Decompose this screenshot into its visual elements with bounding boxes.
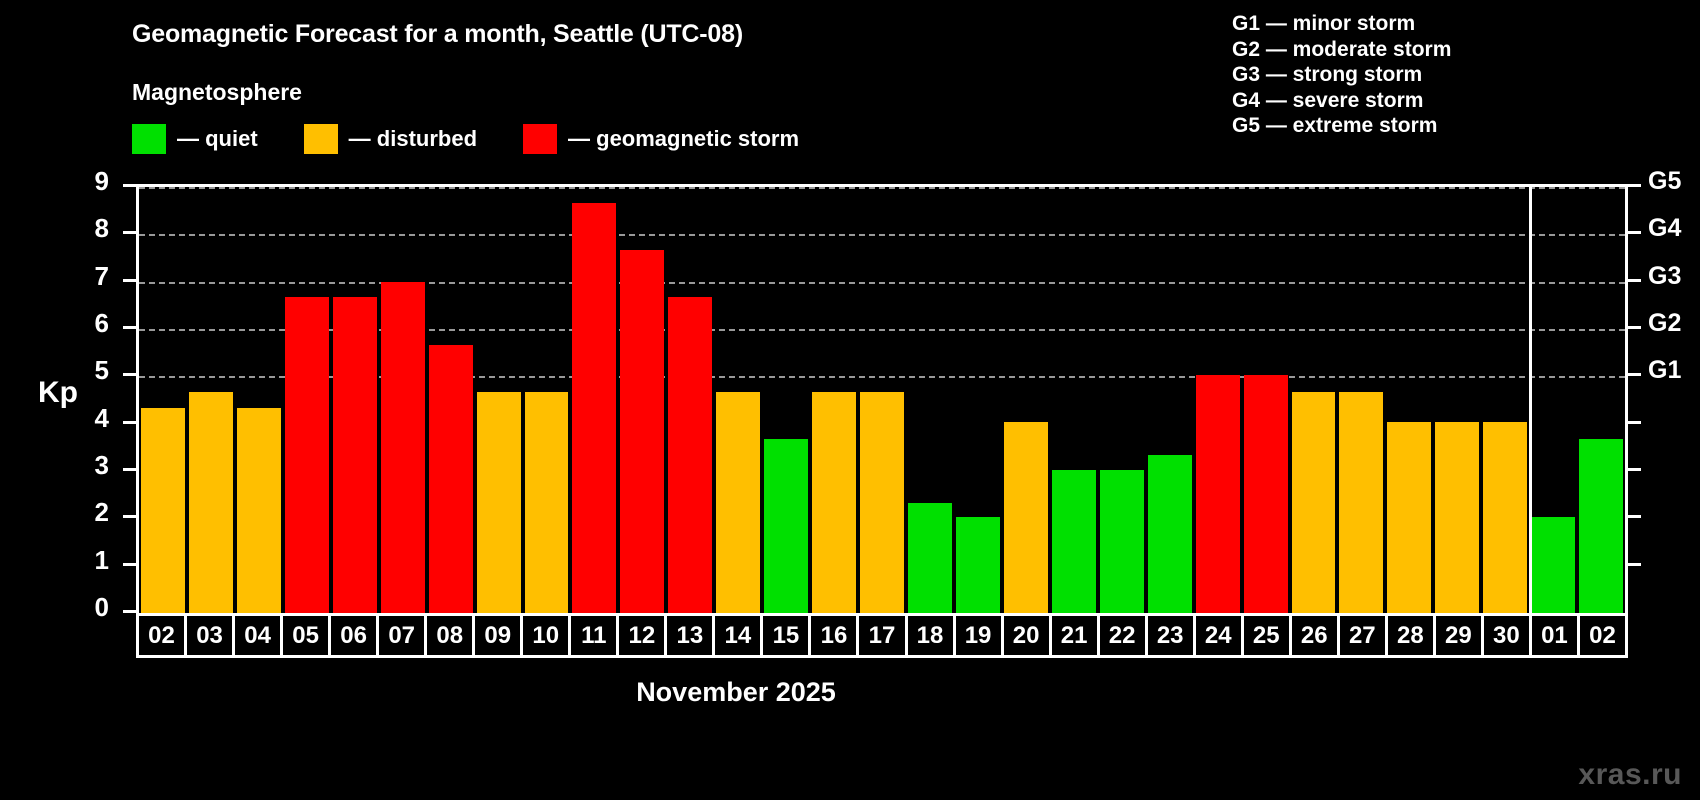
day-label-text: 01 (1541, 624, 1568, 648)
bar-day-11[interactable] (572, 203, 616, 613)
day-label-cell[interactable]: 03 (187, 616, 235, 655)
day-label-cell[interactable]: 05 (283, 616, 331, 655)
plot-inner (139, 187, 1625, 613)
day-label-cell[interactable]: 27 (1340, 616, 1388, 655)
bar-cell[interactable] (379, 187, 427, 613)
day-label-text: 02 (1589, 624, 1616, 648)
right-tick-label-G4: G4 (1648, 214, 1681, 243)
day-label-cell[interactable]: 13 (667, 616, 715, 655)
bar-cell[interactable] (1098, 187, 1146, 613)
day-label-cell[interactable]: 19 (956, 616, 1004, 655)
day-label-text: 06 (340, 624, 367, 648)
gscale-line-1: G1 — minor storm (1232, 11, 1451, 37)
day-label-text: 17 (869, 624, 896, 648)
forecast-divider (1529, 187, 1532, 613)
day-label-text: 26 (1301, 624, 1328, 648)
right-tick-label-G2: G2 (1648, 309, 1681, 338)
day-label-text: 20 (1013, 624, 1040, 648)
y-tick-label-9: 9 (63, 166, 109, 197)
bar-day-27[interactable] (1339, 392, 1383, 613)
bar-series (139, 187, 1625, 613)
day-label-cell[interactable]: 06 (331, 616, 379, 655)
legend-swatch-disturbed (304, 124, 338, 154)
bar-day-13[interactable] (668, 297, 712, 613)
day-label-cell[interactable]: 30 (1484, 616, 1532, 655)
bar-cell[interactable] (570, 187, 618, 613)
bar-cell[interactable] (1290, 187, 1338, 613)
x-axis-title-text: November 2025 (636, 677, 836, 707)
chart-plot-area (136, 184, 1628, 613)
right-minor-tick-2 (1628, 515, 1641, 518)
bar-cell[interactable] (858, 187, 906, 613)
y-tick-1 (123, 563, 136, 566)
legend-swatch-storm (523, 124, 557, 154)
y-tick-label-2: 2 (63, 497, 109, 528)
day-label-cell[interactable]: 08 (427, 616, 475, 655)
day-label-cell[interactable]: 10 (523, 616, 571, 655)
x-axis-title: November 2025 (0, 677, 1700, 708)
day-label-cell[interactable]: 20 (1004, 616, 1052, 655)
bar-day-01[interactable] (1531, 517, 1575, 613)
gscale-line-2: G2 — moderate storm (1232, 37, 1451, 63)
day-label-cell[interactable]: 22 (1100, 616, 1148, 655)
legend-swatch-quiet (132, 124, 166, 154)
day-label-cell[interactable]: 09 (475, 616, 523, 655)
day-label-cell[interactable]: 24 (1196, 616, 1244, 655)
day-label-text: 14 (725, 624, 752, 648)
y-tick-label-0: 0 (63, 592, 109, 623)
day-label-text: 10 (532, 624, 559, 648)
day-label-text: 13 (677, 624, 704, 648)
bar-cell[interactable] (906, 187, 954, 613)
watermark: xras.ru (1578, 758, 1682, 792)
day-label-cell[interactable]: 11 (571, 616, 619, 655)
legend-label-storm: — geomagnetic storm (568, 126, 799, 152)
y-tick-label-7: 7 (63, 261, 109, 292)
bar-cell[interactable] (1050, 187, 1098, 613)
day-label-cell[interactable]: 07 (379, 616, 427, 655)
day-label-cell[interactable]: 16 (811, 616, 859, 655)
y-tick-label-5: 5 (63, 355, 109, 386)
day-label-cell[interactable]: 02 (1580, 616, 1625, 655)
bar-day-17[interactable] (860, 392, 904, 613)
bar-day-07[interactable] (381, 282, 425, 613)
right-minor-tick-1 (1628, 563, 1641, 566)
day-label-text: 12 (628, 624, 655, 648)
day-label-cell[interactable]: 14 (715, 616, 763, 655)
day-label-text: 02 (148, 624, 175, 648)
day-label-cell[interactable]: 17 (859, 616, 907, 655)
y-tick-8 (123, 231, 136, 234)
y-tick-3 (123, 468, 136, 471)
bar-cell[interactable] (1242, 187, 1290, 613)
day-label-text: 28 (1397, 624, 1424, 648)
day-label-cell[interactable]: 28 (1388, 616, 1436, 655)
bar-day-30[interactable] (1483, 422, 1527, 613)
day-label-cell[interactable]: 18 (908, 616, 956, 655)
gscale-line-3: G3 — strong storm (1232, 62, 1451, 88)
day-label-cell[interactable]: 12 (619, 616, 667, 655)
bar-cell[interactable] (762, 187, 810, 613)
bar-day-26[interactable] (1292, 392, 1336, 613)
day-label-text: 15 (773, 624, 800, 648)
day-label-text: 18 (917, 624, 944, 648)
bar-day-02[interactable] (141, 408, 185, 613)
page-title: Geomagnetic Forecast for a month, Seattl… (132, 20, 743, 49)
bar-day-10[interactable] (525, 392, 569, 613)
bar-cell[interactable] (954, 187, 1002, 613)
y-tick-0 (123, 610, 136, 613)
bar-cell[interactable] (1385, 187, 1433, 613)
bar-cell[interactable] (1577, 187, 1625, 613)
bar-day-23[interactable] (1148, 455, 1192, 613)
right-tick-label-G5: G5 (1648, 167, 1681, 196)
day-label-cell[interactable]: 21 (1052, 616, 1100, 655)
bar-day-05[interactable] (285, 297, 329, 613)
bar-day-20[interactable] (1004, 422, 1048, 613)
right-tick-G5 (1628, 184, 1641, 187)
day-label-text: 30 (1493, 624, 1520, 648)
day-label-cell[interactable]: 04 (235, 616, 283, 655)
day-label-text: 24 (1205, 624, 1232, 648)
y-tick-4 (123, 421, 136, 424)
bar-cell[interactable] (475, 187, 523, 613)
legend-item-quiet: — quiet (132, 124, 258, 154)
bar-cell[interactable] (1337, 187, 1385, 613)
bar-cell[interactable] (1529, 187, 1577, 613)
bar-day-15[interactable] (764, 439, 808, 613)
y-tick-2 (123, 515, 136, 518)
bar-day-29[interactable] (1435, 422, 1479, 613)
right-tick-label-G3: G3 (1648, 262, 1681, 291)
bar-cell[interactable] (714, 187, 762, 613)
bar-day-19[interactable] (956, 517, 1000, 613)
gscale-line-4: G4 — severe storm (1232, 88, 1451, 114)
x-axis-day-labels: 0203040506070809101112131415161718192021… (136, 613, 1628, 658)
bar-cell[interactable] (1002, 187, 1050, 613)
bar-day-06[interactable] (333, 297, 377, 613)
bar-cell[interactable] (139, 187, 187, 613)
day-label-cell[interactable]: 15 (763, 616, 811, 655)
bar-cell[interactable] (235, 187, 283, 613)
day-label-text: 09 (484, 624, 511, 648)
bar-cell[interactable] (1481, 187, 1529, 613)
y-tick-label-4: 4 (63, 403, 109, 434)
day-label-text: 05 (292, 624, 319, 648)
y-tick-6 (123, 326, 136, 329)
day-label-text: 25 (1253, 624, 1280, 648)
gscale-line-5: G5 — extreme storm (1232, 113, 1451, 139)
day-label-text: 21 (1061, 624, 1088, 648)
bar-day-24[interactable] (1196, 375, 1240, 613)
bar-cell[interactable] (187, 187, 235, 613)
bar-day-14[interactable] (716, 392, 760, 613)
right-minor-tick-4 (1628, 421, 1641, 424)
day-label-text: 19 (965, 624, 992, 648)
day-label-text: 29 (1445, 624, 1472, 648)
bar-day-03[interactable] (189, 392, 233, 613)
day-label-cell[interactable]: 02 (139, 616, 187, 655)
day-label-text: 07 (388, 624, 415, 648)
legend-label-disturbed: — disturbed (349, 126, 477, 152)
day-label-cell[interactable]: 25 (1244, 616, 1292, 655)
day-label-cell[interactable]: 23 (1148, 616, 1196, 655)
section-label-magnetosphere: Magnetosphere (132, 79, 302, 106)
day-label-text: 22 (1109, 624, 1136, 648)
color-legend: — quiet — disturbed — geomagnetic storm (132, 124, 799, 154)
bar-day-18[interactable] (908, 503, 952, 613)
bar-day-28[interactable] (1387, 422, 1431, 613)
right-minor-tick-3 (1628, 468, 1641, 471)
bar-cell[interactable] (523, 187, 571, 613)
right-tick-G3 (1628, 279, 1641, 282)
bar-day-04[interactable] (237, 408, 281, 613)
bar-cell[interactable] (283, 187, 331, 613)
right-tick-G1 (1628, 373, 1641, 376)
bar-cell[interactable] (618, 187, 666, 613)
day-label-text: 03 (196, 624, 223, 648)
bar-day-12[interactable] (620, 250, 664, 613)
bar-day-22[interactable] (1100, 470, 1144, 613)
bar-cell[interactable] (1146, 187, 1194, 613)
bar-cell[interactable] (810, 187, 858, 613)
y-tick-7 (123, 279, 136, 282)
legend-item-storm: — geomagnetic storm (523, 124, 799, 154)
day-label-text: 16 (821, 624, 848, 648)
day-label-text: 04 (244, 624, 271, 648)
bar-day-02[interactable] (1579, 439, 1623, 613)
legend-label-quiet: — quiet (177, 126, 258, 152)
bar-day-21[interactable] (1052, 470, 1096, 613)
y-tick-label-8: 8 (63, 213, 109, 244)
bar-day-08[interactable] (429, 345, 473, 613)
y-tick-label-1: 1 (63, 545, 109, 576)
day-label-text: 23 (1157, 624, 1184, 648)
y-tick-label-3: 3 (63, 450, 109, 481)
right-tick-label-G1: G1 (1648, 356, 1681, 385)
day-label-cell[interactable]: 26 (1292, 616, 1340, 655)
bar-cell[interactable] (331, 187, 379, 613)
right-tick-G2 (1628, 326, 1641, 329)
bar-cell[interactable] (666, 187, 714, 613)
bar-day-16[interactable] (812, 392, 856, 613)
right-tick-G4 (1628, 231, 1641, 234)
bar-cell[interactable] (1433, 187, 1481, 613)
bar-day-25[interactable] (1244, 375, 1288, 613)
y-tick-9 (123, 184, 136, 187)
day-label-cell[interactable]: 01 (1532, 616, 1580, 655)
legend-item-disturbed: — disturbed (304, 124, 477, 154)
day-label-text: 11 (581, 624, 606, 648)
bar-cell[interactable] (427, 187, 475, 613)
day-label-text: 27 (1349, 624, 1376, 648)
day-label-text: 08 (436, 624, 463, 648)
bar-day-09[interactable] (477, 392, 521, 613)
y-tick-5 (123, 373, 136, 376)
y-tick-label-6: 6 (63, 308, 109, 339)
bar-cell[interactable] (1194, 187, 1242, 613)
gscale-legend: G1 — minor stormG2 — moderate stormG3 — … (1232, 11, 1451, 139)
day-label-cell[interactable]: 29 (1436, 616, 1484, 655)
